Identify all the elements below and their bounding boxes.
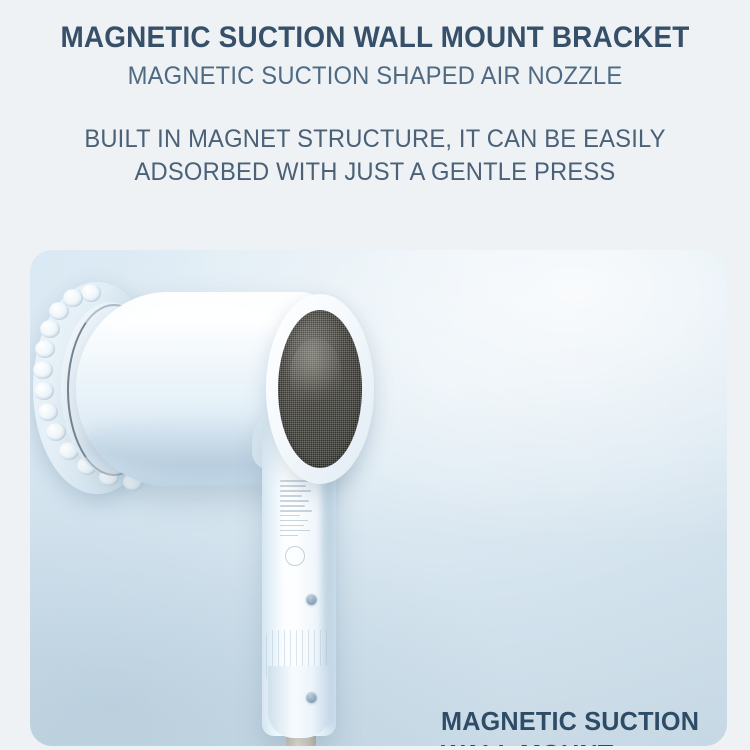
description-block: BUILT IN MAGNET STRUCTURE, IT CAN BE EAS…	[0, 89, 750, 188]
air-intake-mesh-grille	[278, 310, 362, 468]
mount-scallop	[81, 284, 101, 302]
mount-scallop	[49, 302, 69, 320]
overlay-headline-line-2: WALL MOUNT BRACKET	[441, 738, 718, 746]
mount-scallop	[46, 423, 66, 441]
hair-dryer-product-image	[30, 250, 727, 746]
product-photo-panel: MAGNETIC SUCTION WALL MOUNT BRACKET EASY…	[30, 250, 727, 746]
mount-scallop	[38, 403, 58, 421]
mount-scallop	[34, 382, 54, 400]
hanging-hole	[306, 692, 317, 703]
handle-screw-dot	[306, 594, 317, 605]
description-line-2: ADSORBED WITH JUST A GENTLE PRESS	[19, 156, 732, 189]
mount-scallop	[35, 340, 55, 358]
air-intake-bezel	[266, 294, 374, 484]
mount-scallop	[33, 361, 53, 379]
certification-mark-icon	[285, 546, 305, 566]
page-subtitle: MAGNETIC SUCTION SHAPED AIR NOZZLE	[19, 54, 732, 90]
mount-scallop	[40, 320, 60, 338]
barrel-highlight	[110, 304, 292, 344]
description-line-1: BUILT IN MAGNET STRUCTURE, IT CAN BE EAS…	[19, 123, 732, 156]
handle-spec-label	[280, 480, 314, 564]
handle-taper	[268, 666, 330, 738]
overlay-headline: MAGNETIC SUCTION WALL MOUNT BRACKET	[441, 705, 727, 746]
header-text-block: MAGNETIC SUCTION WALL MOUNT BRACKET MAGN…	[0, 0, 750, 188]
overlay-headline-line-1: MAGNETIC SUCTION	[441, 705, 718, 738]
page-title: MAGNETIC SUCTION WALL MOUNT BRACKET	[26, 0, 724, 54]
